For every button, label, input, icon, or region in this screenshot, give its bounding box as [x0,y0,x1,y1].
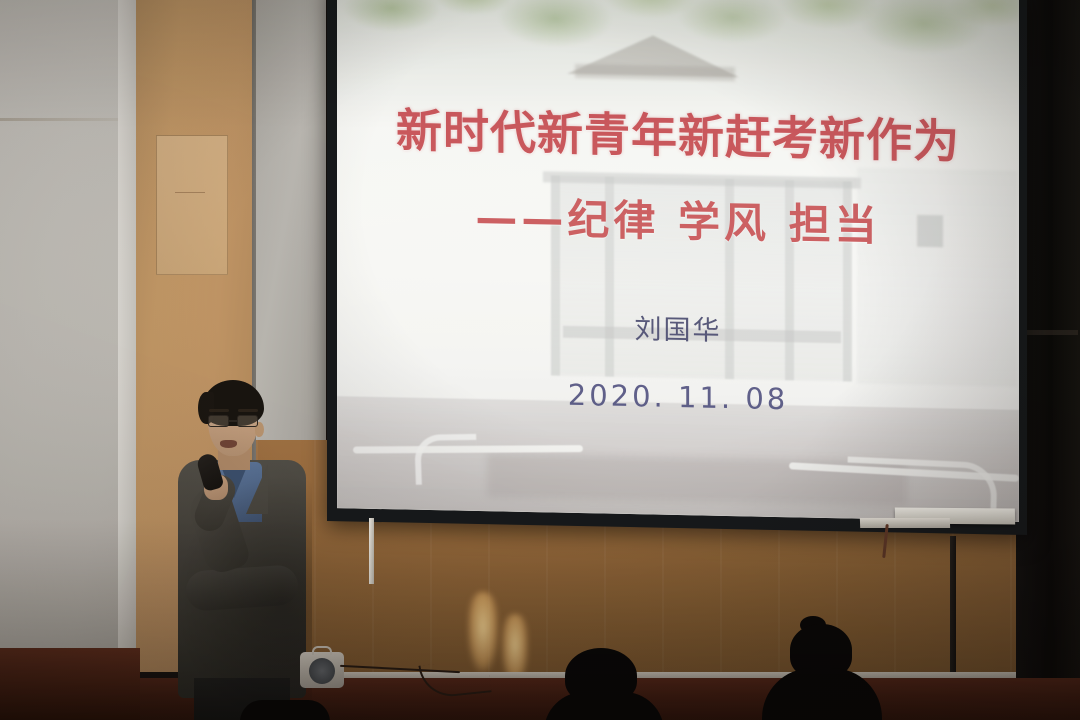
projection-screen: 新时代新青年新赶考新作为 ——纪律 学风 担当 刘国华 2020. 11. 08 [327,0,1027,535]
slide-speaker-name: 刘国华 [337,301,1019,354]
stage-floor [0,678,1080,720]
left-white-wall [0,0,132,648]
projection-screen-surface: 新时代新青年新赶考新作为 ——纪律 学风 担当 刘国华 2020. 11. 08 [337,0,1019,522]
screen-support-pole-right [950,536,956,686]
floor-speaker-box [300,646,344,688]
glasses-bridge [229,420,238,422]
presenter-lapel-right [246,464,268,514]
slide-title: 新时代新青年新赶考新作为 [337,93,1019,173]
lecture-hall-photo: 新时代新青年新赶考新作为 ——纪律 学风 担当 刘国华 2020. 11. 08 [0,0,1080,720]
glasses-lens-right [237,415,258,427]
speaker-box-grill [309,658,335,684]
papers-on-ledge-second [860,518,950,528]
presenter-eyebrow-right [238,409,258,412]
audience-foreground-shadow [240,700,330,720]
presenter-mouth [220,440,237,448]
presenter-eyebrow-left [209,409,229,412]
wood-column-patch [156,135,228,275]
glasses-icon [207,415,261,427]
presenter-crossed-arm [185,564,300,612]
glasses-lens-left [208,415,229,427]
stage-floor-left [0,648,140,720]
slide-date: 2020. 11. 08 [337,373,1019,421]
speaker-box-handle [312,646,332,655]
slide-subtitle: ——纪律 学风 担当 [337,181,1019,256]
slide-text-block: 新时代新青年新赶考新作为 ——纪律 学风 担当 刘国华 2020. 11. 08 [337,0,1019,522]
screen-support-pole-left [369,518,374,584]
